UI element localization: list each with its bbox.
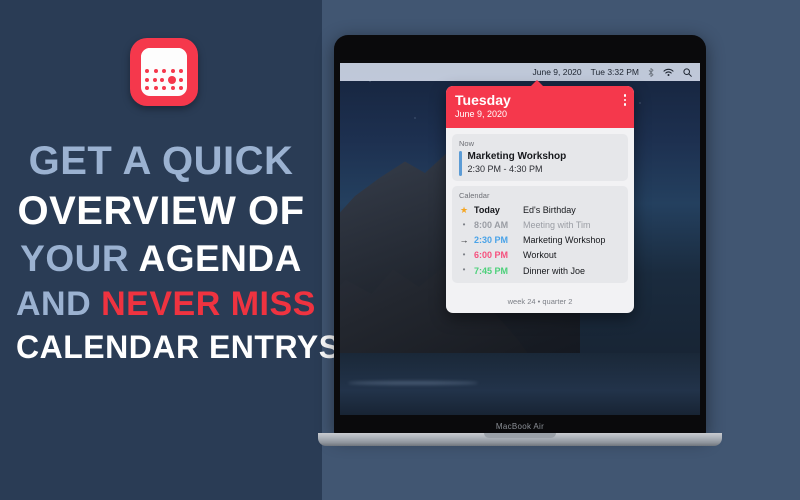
calendar-widget[interactable]: Tuesday June 9, 2020 Now Marketing Works… bbox=[446, 86, 634, 313]
calendar-card-title: Calendar bbox=[459, 191, 621, 200]
calendar-icon-header-bar bbox=[141, 48, 187, 61]
wallpaper-sea-glint bbox=[348, 381, 478, 385]
promo-headline: GET A QUICK OVERVIEW OF YOUR AGENDA AND … bbox=[0, 140, 322, 364]
dot-icon: • bbox=[459, 250, 469, 261]
calendar-icon-dot-grid bbox=[141, 63, 187, 96]
widget-body: Now Marketing Workshop 2:30 PM - 4:30 PM… bbox=[446, 128, 634, 294]
widget-header: Tuesday June 9, 2020 bbox=[446, 86, 634, 128]
calendar-app-icon-glyph bbox=[141, 48, 187, 96]
laptop-screen: June 9, 2020 Tue 3:32 PM bbox=[340, 63, 700, 415]
widget-day-label: Tuesday bbox=[455, 93, 625, 108]
headline-line-3: YOUR AGENDA bbox=[16, 240, 306, 279]
laptop-base-notch bbox=[484, 433, 556, 438]
dot-icon: • bbox=[459, 220, 469, 231]
star-icon: ★ bbox=[459, 204, 469, 216]
headline-line-5: CALENDAR ENTRYS bbox=[16, 331, 306, 365]
macos-menu-bar: June 9, 2020 Tue 3:32 PM bbox=[340, 63, 700, 81]
calendar-event-row[interactable]: →2:30 PMMarketing Workshop bbox=[459, 233, 621, 248]
calendar-event-row[interactable]: •8:00 AMMeeting with Tim bbox=[459, 218, 621, 233]
promo-canvas: GET A QUICK OVERVIEW OF YOUR AGENDA AND … bbox=[0, 0, 800, 500]
wifi-icon[interactable] bbox=[663, 68, 674, 77]
now-event: Marketing Workshop 2:30 PM - 4:30 PM bbox=[459, 151, 621, 175]
event-time: 6:00 PM bbox=[474, 249, 518, 261]
event-name: Dinner with Joe bbox=[523, 265, 585, 277]
now-card[interactable]: Now Marketing Workshop 2:30 PM - 4:30 PM bbox=[452, 134, 628, 180]
laptop-base bbox=[318, 433, 722, 446]
headline-line-3-your: YOUR bbox=[20, 238, 138, 279]
headline-line-4-and: AND bbox=[16, 285, 101, 323]
more-options-icon[interactable] bbox=[624, 94, 627, 106]
event-time: 7:45 PM bbox=[474, 265, 518, 277]
event-name: Workout bbox=[523, 249, 556, 261]
event-time: 8:00 AM bbox=[474, 219, 518, 231]
dot-icon: • bbox=[459, 265, 469, 276]
menubar-time: Tue 3:32 PM bbox=[591, 67, 639, 77]
arrow-icon: → bbox=[459, 234, 469, 246]
now-accent-bar bbox=[459, 151, 462, 175]
event-name: Ed's Birthday bbox=[523, 204, 576, 216]
headline-line-4-never-miss: NEVER MISS bbox=[101, 285, 316, 323]
bluetooth-icon[interactable] bbox=[648, 68, 654, 77]
widget-date-label: June 9, 2020 bbox=[455, 109, 625, 121]
laptop-model-label: MacBook Air bbox=[334, 422, 706, 431]
calendar-card[interactable]: Calendar ★TodayEd's Birthday•8:00 AMMeet… bbox=[452, 186, 628, 284]
headline-line-2: OVERVIEW OF bbox=[16, 190, 306, 232]
now-event-time: 2:30 PM - 4:30 PM bbox=[468, 164, 567, 176]
event-time: Today bbox=[474, 204, 518, 216]
search-icon[interactable] bbox=[683, 68, 692, 77]
event-name: Marketing Workshop bbox=[523, 234, 605, 246]
widget-pointer-arrow bbox=[530, 80, 544, 87]
menubar-date: June 9, 2020 bbox=[532, 67, 581, 77]
calendar-event-row[interactable]: ★TodayEd's Birthday bbox=[459, 203, 621, 218]
laptop-lid: June 9, 2020 Tue 3:32 PM bbox=[334, 35, 706, 435]
calendar-app-icon bbox=[130, 38, 198, 106]
headline-line-4: AND NEVER MISS bbox=[16, 287, 306, 323]
macbook-air-mockup: June 9, 2020 Tue 3:32 PM bbox=[334, 35, 706, 447]
now-event-name: Marketing Workshop bbox=[468, 151, 567, 164]
now-card-title: Now bbox=[459, 139, 621, 148]
event-name: Meeting with Tim bbox=[523, 219, 591, 231]
calendar-event-list: ★TodayEd's Birthday•8:00 AMMeeting with … bbox=[459, 203, 621, 279]
event-time: 2:30 PM bbox=[474, 234, 518, 246]
headline-line-1: GET A QUICK bbox=[16, 140, 306, 182]
widget-footer: week 24 • quarter 2 bbox=[446, 294, 634, 313]
headline-line-3-agenda: AGENDA bbox=[138, 238, 301, 279]
calendar-event-row[interactable]: •7:45 PMDinner with Joe bbox=[459, 263, 621, 278]
calendar-event-row[interactable]: •6:00 PMWorkout bbox=[459, 248, 621, 263]
